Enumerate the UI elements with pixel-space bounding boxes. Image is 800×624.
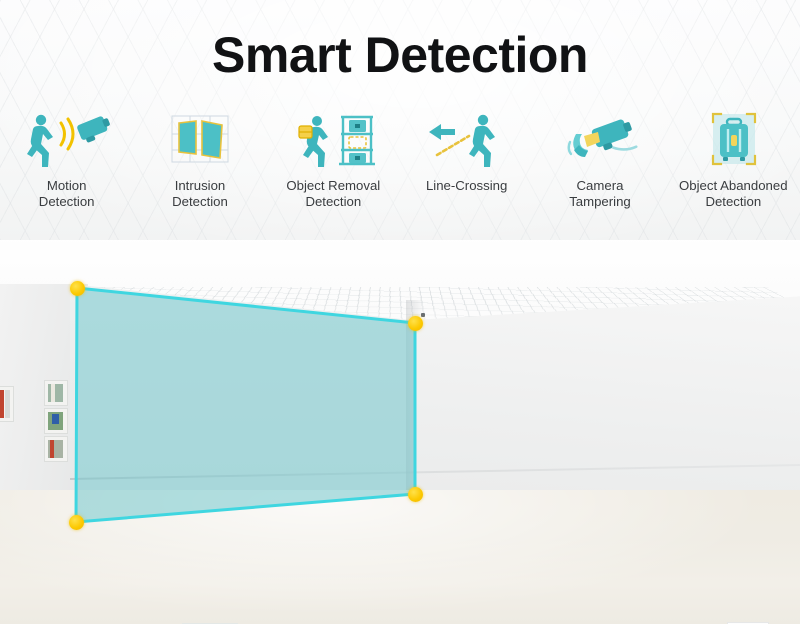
gallery-scene-photo [0,240,800,624]
handle-top-right[interactable] [408,316,423,331]
wall-sensor-dot [421,313,425,317]
detection-zone-polygon[interactable] [76,288,415,522]
feature-object-removal-detection[interactable]: Object Removal Detection [267,110,400,209]
feature-label: Camera Tampering [569,178,631,209]
feature-label: Object Abandoned Detection [679,178,788,209]
feature-label: Motion Detection [39,178,95,209]
motion-detection-icon [21,110,113,172]
smart-detection-page: Smart Detection [0,0,800,624]
handle-bottom-right[interactable] [408,487,423,502]
object-abandoned-detection-icon [687,110,779,172]
handle-top-left[interactable] [70,281,85,296]
object-removal-detection-icon [287,110,379,172]
feature-list: Motion Detection Intrusion Detection [0,110,800,220]
banner: Smart Detection [0,0,800,240]
feature-line-crossing[interactable]: Line-Crossing [400,110,533,194]
detection-zone-overlay[interactable] [0,240,800,624]
feature-intrusion-detection[interactable]: Intrusion Detection [133,110,266,209]
feature-object-abandoned-detection[interactable]: Object Abandoned Detection [667,110,800,209]
camera-tampering-icon [554,110,646,172]
feature-label: Object Removal Detection [286,178,380,209]
feature-label: Intrusion Detection [172,178,228,209]
feature-motion-detection[interactable]: Motion Detection [0,110,133,209]
handle-bottom-left[interactable] [69,515,84,530]
feature-camera-tampering[interactable]: Camera Tampering [533,110,666,209]
feature-label: Line-Crossing [426,178,507,194]
detection-zone-svg[interactable] [0,240,800,624]
line-crossing-icon [421,110,513,172]
page-title: Smart Detection [0,26,800,84]
intrusion-detection-icon [154,110,246,172]
